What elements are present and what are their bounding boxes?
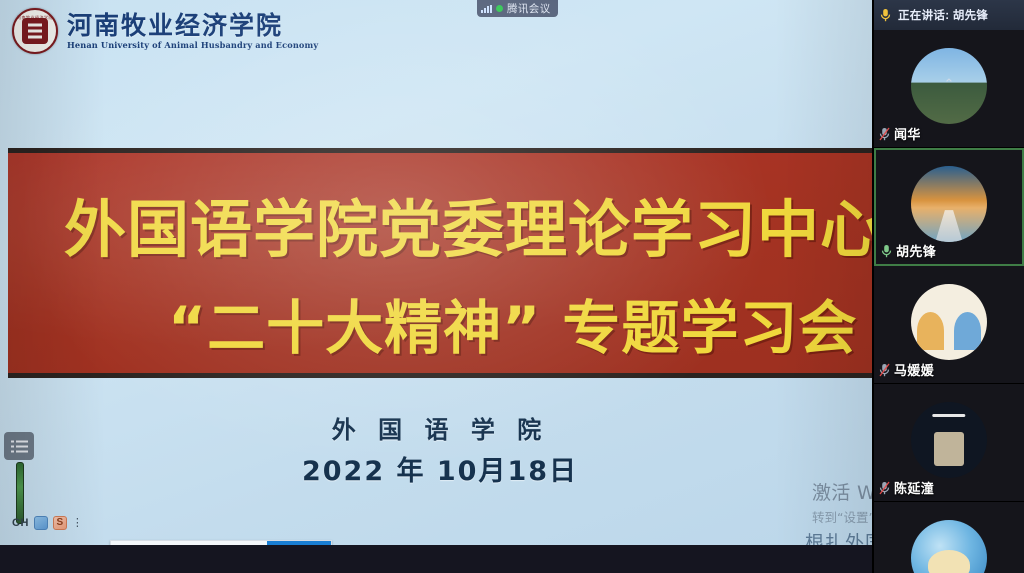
slide-subtitle-block: 外 国 语 学 院 2022 年 10月18日 xyxy=(0,410,880,488)
participant-tile[interactable]: 胡先锋 xyxy=(874,148,1024,266)
avatar xyxy=(911,284,987,360)
mic-muted-icon xyxy=(881,244,892,258)
avatar xyxy=(911,166,987,242)
windows-search-widget[interactable]: e 迪卡侬被罚18万元 搜索一下 xyxy=(110,540,332,545)
participant-name: 马媛媛 xyxy=(894,360,934,379)
university-name-block: 河南牧业经济学院 Henan University of Animal Husb… xyxy=(67,12,318,51)
active-speaker-label: 正在讲话: 胡先锋 xyxy=(898,7,988,23)
ime-sogou-icon[interactable]: S xyxy=(53,516,67,530)
mic-muted-icon xyxy=(879,481,890,495)
participant-name-row: 闻华 xyxy=(879,124,921,143)
ime-overflow-menu-icon[interactable]: ⋮ xyxy=(72,519,83,527)
slide-title-banner: 外国语学院党委理论学习中心 “二十大精神” 专题学习会 xyxy=(8,148,880,378)
ime-toolbar[interactable]: CH S ⋮ xyxy=(12,516,83,530)
participant-name: 陈延潼 xyxy=(894,478,934,497)
activation-subtitle: 转到“设置”以激活 Windows xyxy=(812,507,880,526)
projected-screen-photo: 河南牧业经济学院 河南牧业经济学院 Henan University of An… xyxy=(0,0,1024,573)
participant-name-row: 陈延潼 xyxy=(879,478,934,497)
participant-tile[interactable]: Gong lian ⌄ xyxy=(874,502,1024,573)
avatar xyxy=(911,402,987,478)
participant-sidebar[interactable]: 正在讲话: 胡先锋 闻华 ⌃ xyxy=(872,0,1024,573)
meeting-pill-label: 腾讯会议 xyxy=(507,1,551,16)
search-input[interactable]: 迪卡侬被罚18万元 xyxy=(145,544,262,545)
slide-date: 2022 年 10月18日 xyxy=(0,449,880,488)
participant-tile[interactable]: 陈延潼 xyxy=(874,384,1024,502)
edge-browser-icon: e xyxy=(117,545,132,546)
list-menu-icon[interactable] xyxy=(4,432,34,460)
ime-language-label[interactable]: CH xyxy=(12,517,29,529)
university-name-en: Henan University of Animal Husbandry and… xyxy=(67,41,318,50)
participant-tile[interactable]: 闻华 ⌃ xyxy=(874,30,1024,148)
mic-muted-icon xyxy=(879,127,890,141)
participant-name-row: 胡先锋 xyxy=(881,241,936,260)
avatar xyxy=(911,520,987,573)
seal-arc-text: 河南牧业经济学院 xyxy=(17,15,53,21)
ime-level-bar xyxy=(16,462,24,524)
participant-tile[interactable]: 马媛媛 xyxy=(874,266,1024,384)
mic-muted-icon xyxy=(879,363,890,377)
presentation-slide: 河南牧业经济学院 河南牧业经济学院 Henan University of An… xyxy=(0,0,880,545)
scroll-up-icon[interactable]: ⌃ xyxy=(944,76,955,92)
banner-title-line-1: 外国语学院党委理论学习中心 xyxy=(64,179,880,269)
university-seal-icon: 河南牧业经济学院 xyxy=(12,8,58,54)
participant-name: 闻华 xyxy=(894,124,921,143)
participant-name-row: 马媛媛 xyxy=(879,360,934,379)
list-menu-glyph xyxy=(11,440,28,453)
active-speaker-bar: 正在讲话: 胡先锋 xyxy=(874,0,1024,30)
university-logo: 河南牧业经济学院 河南牧业经济学院 Henan University of An… xyxy=(12,8,318,54)
tencent-meeting-pill[interactable]: 腾讯会议 xyxy=(477,0,558,17)
university-name-cn: 河南牧业经济学院 xyxy=(67,12,318,40)
ime-toolbox-icon[interactable] xyxy=(34,516,48,530)
recording-dot-icon xyxy=(496,5,503,12)
search-submit-button[interactable]: 搜索一下 xyxy=(267,541,331,545)
slide-bottom-motto: 根扎外国 xyxy=(805,528,880,545)
participant-name: 胡先锋 xyxy=(896,241,936,260)
banner-title-line-2: “二十大精神” 专题学习会 xyxy=(168,281,857,365)
microphone-icon xyxy=(880,8,891,22)
signal-strength-icon xyxy=(481,5,492,13)
slide-organization: 外 国 语 学 院 xyxy=(0,410,880,445)
